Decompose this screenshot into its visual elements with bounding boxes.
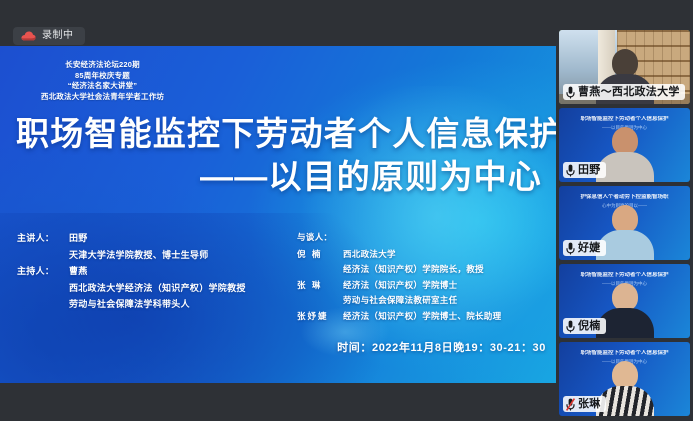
discussant-row: 张 琳 经济法（知识产权）学院博士 [297, 278, 501, 294]
discussant-heading: 与谈人： [297, 230, 501, 246]
participant-name-chip: 曹燕～西北政法大学 [563, 84, 685, 100]
discussant-affiliation-extra: 劳动与社会保障法教研室主任 [297, 293, 501, 309]
microphone-icon [566, 242, 575, 255]
speaker-info-block: 主讲人： 田野 天津大学法学院教授、博士生导师 主持人： 曹燕 西北政法大学经济… [17, 230, 246, 313]
participant-name: 倪楠 [578, 319, 601, 333]
slide-header-line-2: 85周年校庆专题 [0, 71, 205, 82]
participant-name: 张琳 [578, 397, 601, 411]
slide-title-subtitle: ——以目的原则为中心 [0, 157, 548, 196]
discussant-affiliation: 西北政法大学 [343, 247, 396, 263]
discussant-info-block: 与谈人： 倪 楠 西北政法大学 经济法（知识产权）学院院长，教授 张 琳 经济法… [297, 230, 501, 324]
participant-name: 曹燕～西北政法大学 [578, 85, 680, 99]
microphone-icon [566, 320, 575, 333]
discussant-name: 张妤婕 [297, 309, 343, 325]
participant-tile-haojie[interactable]: 护保息信人个者动劳下控监能智场职 心中为则原的目以—— 好婕 [559, 186, 690, 260]
host-affiliation-line-2: 劳动与社会保障法学科带头人 [17, 296, 246, 313]
host-affiliation-line-1: 西北政法大学经济法（知识产权）学院教授 [17, 280, 246, 297]
shared-screen-slide[interactable]: 长安经济法论坛220期 85周年校庆专题 “经济法名家大讲堂” 西北政法大学社会… [0, 46, 556, 383]
thumb-slide-title: 职场智能监控下劳动者个人信息保护 [565, 116, 684, 123]
participant-tile-ninan[interactable]: 职场智能监控下劳动者个人信息保护 ——以目的原则为中心 倪楠 [559, 264, 690, 338]
slide-title: 职场智能监控下劳动者个人信息保护 ——以目的原则为中心 [0, 114, 548, 196]
host-name: 曹燕 [69, 263, 88, 280]
participant-name: 田野 [578, 163, 601, 177]
participant-name-chip: 好婕 [563, 240, 606, 256]
slide-time-text: 时间：2022年11月8日晚19：30-21：30 [337, 339, 546, 355]
participant-filmstrip[interactable]: 曹燕～西北政法大学 职场智能监控下劳动者个人信息保护 ——以目的原则为中心 [556, 0, 693, 421]
microphone-icon [566, 164, 575, 177]
presenter-name: 田野 [69, 230, 88, 247]
discussant-row: 张妤婕 经济法（知识产权）学院博士、院长助理 [297, 309, 501, 325]
slide-title-main: 职场智能监控下劳动者个人信息保护 [0, 114, 548, 153]
presenter-row: 主讲人： 田野 [17, 230, 246, 247]
discussant-row: 倪 楠 西北政法大学 [297, 247, 501, 263]
thumb-slide-title: 护保息信人个者动劳下控监能智场职 [565, 194, 684, 201]
host-row: 主持人： 曹燕 [17, 263, 246, 280]
participant-name-chip: 倪楠 [563, 318, 606, 334]
participant-tile-tianye[interactable]: 职场智能监控下劳动者个人信息保护 ——以目的原则为中心 田野 [559, 108, 690, 182]
discussant-affiliation: 经济法（知识产权）学院博士、院长助理 [343, 309, 501, 325]
microphone-icon [566, 86, 575, 99]
slide-header-line-1: 长安经济法论坛220期 [0, 60, 205, 71]
participant-tile-zhanglin[interactable]: 职场智能监控下劳动者个人信息保护 ——以目的原则为中心 张琳 [559, 342, 690, 416]
discussant-affiliation: 经济法（知识产权）学院博士 [343, 278, 457, 294]
microphone-muted-icon [566, 398, 575, 411]
recording-badge[interactable]: 录制中 [13, 27, 85, 45]
slide-header-line-3: “经济法名家大讲堂” [0, 81, 205, 92]
meeting-window: 录制中 长安经济法论坛220期 85周年校庆专题 “经济法名家大讲堂” 西北政法… [0, 0, 693, 421]
thumb-slide-title: 职场智能监控下劳动者个人信息保护 [565, 272, 684, 279]
participant-name-chip: 张琳 [563, 396, 606, 412]
slide-header: 长安经济法论坛220期 85周年校庆专题 “经济法名家大讲堂” 西北政法大学社会… [0, 60, 205, 102]
participant-name-chip: 田野 [563, 162, 606, 178]
participant-name: 好婕 [578, 241, 601, 255]
thumb-slide-title: 职场智能监控下劳动者个人信息保护 [565, 350, 684, 357]
host-label: 主持人： [17, 263, 69, 280]
discussant-name: 张 琳 [297, 278, 343, 294]
slide-header-line-4: 西北政法大学社会法青年学者工作坊 [0, 92, 205, 103]
recording-label: 录制中 [42, 31, 74, 41]
discussant-affiliation-extra: 经济法（知识产权）学院院长，教授 [297, 262, 501, 278]
presenter-affiliation: 天津大学法学院教授、博士生导师 [17, 247, 246, 264]
participant-tile-caoyan[interactable]: 曹燕～西北政法大学 [559, 30, 690, 104]
discussant-name: 倪 楠 [297, 247, 343, 263]
cloud-recording-icon [21, 31, 36, 41]
presenter-label: 主讲人： [17, 230, 69, 247]
